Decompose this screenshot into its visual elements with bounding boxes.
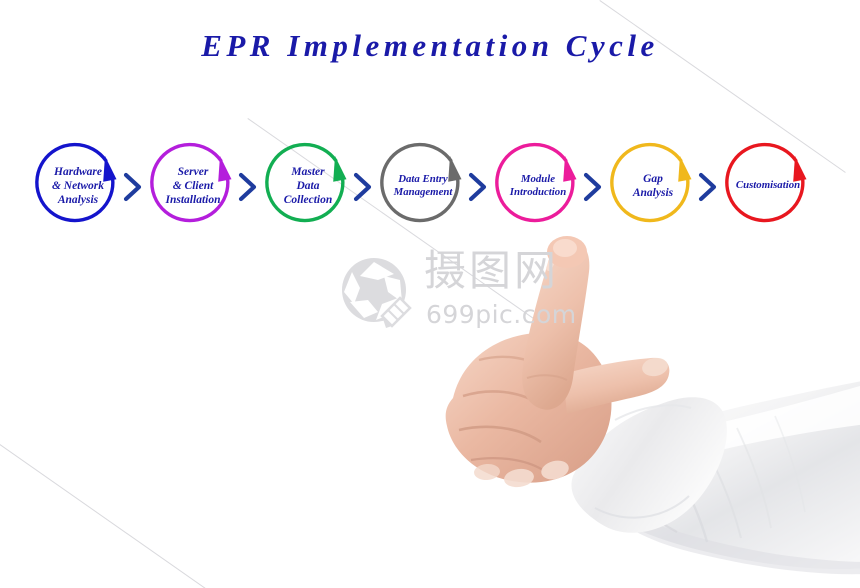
circular-arrow-icon [607,140,699,232]
watermark: 摄图网 699pic.com [338,252,568,344]
step-node-6[interactable]: GapAnalysis [607,140,699,232]
connector-4 [467,172,489,202]
diagram-canvas: EPR Implementation Cycle Hardware& Netwo… [0,0,860,588]
step-node-3[interactable]: MasterDataCollection [262,140,354,232]
step-node-7[interactable]: Customisation [722,140,814,232]
connector-2 [237,172,259,202]
hand-palm [446,332,612,489]
watermark-brand-url: 699pic.com [426,302,577,327]
shirt-cuff [571,397,726,532]
connector-5 [582,172,604,202]
circular-arrow-icon [492,140,584,232]
step-node-1[interactable]: Hardware& NetworkAnalysis [32,140,124,232]
camera-aperture-icon [338,254,416,332]
circular-arrow-icon [32,140,124,232]
connector-6 [697,172,719,202]
circular-arrow-icon [147,140,239,232]
connector-1 [122,172,144,202]
connector-3 [352,172,374,202]
index-finger [522,236,589,410]
step-node-2[interactable]: Server& ClientInstallation [147,140,239,232]
pencil-icon [382,298,410,328]
step-node-5[interactable]: ModuleIntroduction [492,140,584,232]
step-node-4[interactable]: Data EntryManagement [377,140,469,232]
shirt-sleeve [583,380,860,574]
page-title: EPR Implementation Cycle [0,28,860,64]
circular-arrow-icon [262,140,354,232]
watermark-brand-cn: 摄图网 [424,250,559,292]
watermark-diagonal-line-3 [0,430,226,588]
process-flow: Hardware& NetworkAnalysis Server& Client… [0,140,860,236]
hand-thumb [563,356,669,414]
pointing-hand-photo [415,228,860,588]
circular-arrow-icon [377,140,469,232]
circular-arrow-icon [722,140,814,232]
